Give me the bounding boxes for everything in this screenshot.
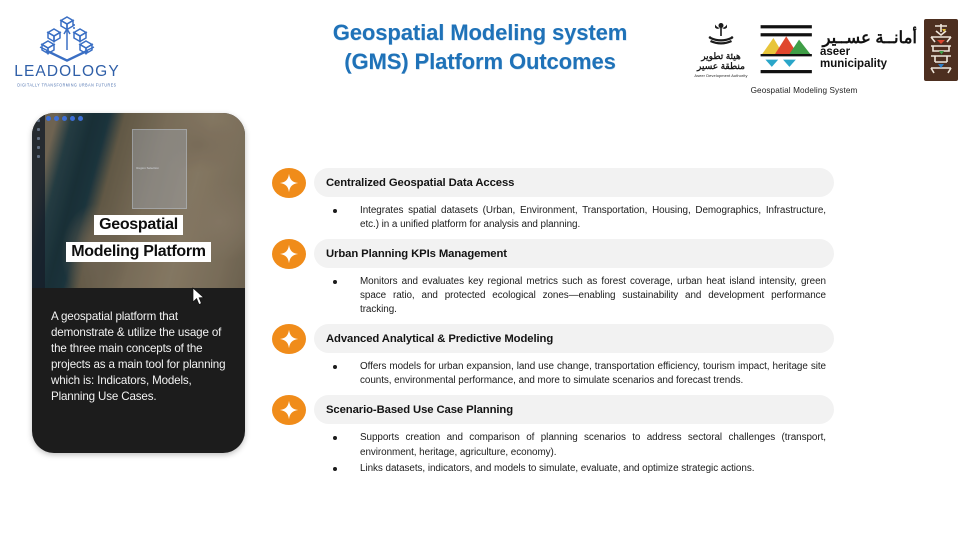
map-layer-dots[interactable]: [46, 116, 83, 121]
outcome-header[interactable]: Centralized Geospatial Data Access: [272, 168, 834, 197]
ada-arabic-line2: منطقة عسير: [690, 61, 752, 72]
outcome-section: Urban Planning KPIs Management Monitors …: [272, 239, 834, 317]
partners-caption: Geospatial Modeling System: [690, 86, 958, 95]
platform-preview-card[interactable]: Region Selection Geospatial Modeling Pla…: [32, 113, 245, 453]
ada-english-name: Aseer Development Authority: [690, 73, 752, 78]
map-layer-dot-icon[interactable]: [46, 116, 51, 121]
card-title: Geospatial Modeling Platform: [32, 215, 245, 269]
partner-logos: هيئة تطوير منطقة عسير Aseer Development …: [690, 16, 958, 95]
outcome-bullets: Offers models for urban expansion, land …: [327, 360, 834, 388]
list-item: Supports creation and comparison of plan…: [327, 431, 834, 459]
list-item: Offers models for urban expansion, land …: [327, 360, 834, 388]
brand-logo: LEADOLOGY DIGITALLY TRANSFORMING URBAN F…: [12, 14, 122, 87]
outcome-header[interactable]: Advanced Analytical & Predictive Modelin…: [272, 324, 834, 353]
brand-tagline: DIGITALLY TRANSFORMING URBAN FUTURES: [12, 82, 122, 87]
outcome-section: Advanced Analytical & Predictive Modelin…: [272, 324, 834, 388]
aseer-municipality-logo: أمانــة عســير aseer municipality: [759, 21, 917, 79]
ada-arabic-line1: هيئة تطوير: [690, 51, 752, 62]
outcome-bullets: Integrates spatial datasets (Urban, Envi…: [327, 204, 834, 232]
outcome-header[interactable]: Scenario-Based Use Case Planning: [272, 395, 834, 424]
map-tool-icon[interactable]: [37, 137, 40, 140]
map-tool-icon[interactable]: [37, 146, 40, 149]
page-title-line1: Geospatial Modeling system: [270, 18, 690, 47]
list-item: Links datasets, indicators, and models t…: [327, 462, 834, 476]
aseer-development-authority-logo: هيئة تطوير منطقة عسير Aseer Development …: [690, 22, 752, 79]
outcome-bullets: Supports creation and comparison of plan…: [327, 431, 834, 475]
slide-root: LEADOLOGY DIGITALLY TRANSFORMING URBAN F…: [0, 0, 960, 540]
outcome-bullets: Monitors and evaluates key regional metr…: [327, 275, 834, 317]
outcome-section: Scenario-Based Use Case Planning Support…: [272, 395, 834, 475]
leadology-isometric-buildings-icon: [37, 14, 97, 62]
list-item: Monitors and evaluates key regional metr…: [327, 275, 834, 317]
map-tool-icon[interactable]: [37, 128, 40, 131]
mouse-pointer-icon: [192, 287, 205, 306]
outcome-title: Centralized Geospatial Data Access: [326, 177, 514, 189]
four-point-star-icon: [272, 395, 306, 425]
outcome-header[interactable]: Urban Planning KPIs Management: [272, 239, 834, 268]
card-title-line1: Geospatial: [94, 215, 183, 235]
map-layer-dot-icon[interactable]: [70, 116, 75, 121]
outcome-title: Advanced Analytical & Predictive Modelin…: [326, 333, 553, 345]
card-title-line2: Modeling Platform: [66, 242, 210, 262]
four-point-star-icon: [272, 239, 306, 269]
list-item: Integrates spatial datasets (Urban, Envi…: [327, 204, 834, 232]
al-qatt-al-asiri-pattern-icon: [924, 19, 958, 81]
page-title-line2: (GMS) Platform Outcomes: [270, 47, 690, 76]
outcomes-list: Centralized Geospatial Data Access Integ…: [272, 168, 834, 483]
aseer-mountains-icon: [759, 21, 815, 79]
outcome-section: Centralized Geospatial Data Access Integ…: [272, 168, 834, 232]
map-layer-dot-icon[interactable]: [62, 116, 67, 121]
map-selection-label: Region Selection: [136, 166, 159, 170]
municipality-arabic-name: أمانــة عســير: [820, 30, 917, 47]
map-tool-icon[interactable]: [37, 119, 40, 122]
outcome-title: Urban Planning KPIs Management: [326, 248, 507, 260]
brand-name: LEADOLOGY: [12, 64, 122, 80]
map-layer-dot-icon[interactable]: [54, 116, 59, 121]
municipality-english-name: aseer municipality: [820, 47, 917, 70]
map-tool-icon[interactable]: [37, 155, 40, 158]
saudi-palm-swords-emblem-icon: [708, 22, 734, 46]
map-layer-dot-icon[interactable]: [78, 116, 83, 121]
map-selection-rectangle[interactable]: Region Selection: [132, 129, 187, 210]
four-point-star-icon: [272, 324, 306, 354]
page-title: Geospatial Modeling system (GMS) Platfor…: [270, 18, 690, 77]
outcome-title: Scenario-Based Use Case Planning: [326, 404, 513, 416]
card-description: A geospatial platform that demonstrate &…: [51, 309, 233, 405]
four-point-star-icon: [272, 168, 306, 198]
